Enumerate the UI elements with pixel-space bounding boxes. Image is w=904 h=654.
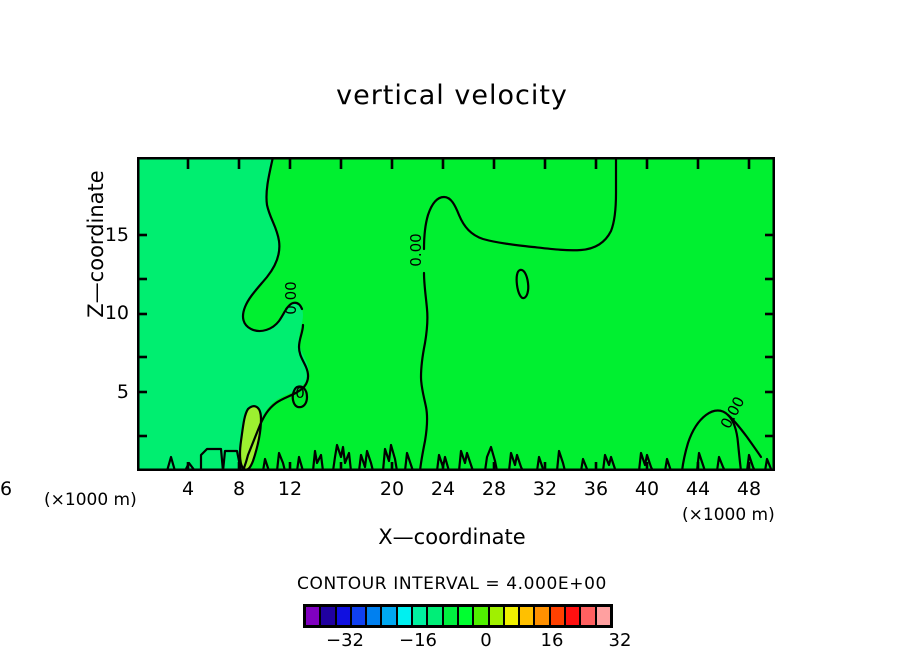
colorbar-swatch-12	[490, 607, 505, 625]
x-tick-label: 40	[635, 478, 659, 500]
y-tick-label: 5	[95, 381, 129, 403]
colorbar-tick-label: −16	[399, 630, 437, 651]
x-tick-label: 36	[584, 478, 608, 500]
colorbar-swatch-13	[505, 607, 520, 625]
colorbar-swatch-8	[428, 607, 443, 625]
y-tick-label: 15	[95, 224, 129, 246]
contour-canvas: 0.00 0.00 0 0.00	[137, 157, 775, 471]
contour-label: 0.00	[407, 233, 425, 266]
colorbar-tick-label: 32	[609, 630, 632, 651]
colorbar-swatch-2	[337, 607, 352, 625]
x-axis-unit-left: (×1000 m)	[44, 490, 137, 510]
colorbar-swatch-19	[597, 607, 610, 625]
colorbar-swatch-6	[398, 607, 413, 625]
colorbar-tick-label: −32	[326, 630, 364, 651]
colorbar-caption: CONTOUR INTERVAL = 4.000E+00	[0, 574, 904, 594]
colorbar-swatch-18	[581, 607, 596, 625]
x-tick-label: 48	[737, 478, 761, 500]
x-tick-label: 32	[533, 478, 557, 500]
colorbar-swatch-16	[551, 607, 566, 625]
contour-label: 0.00	[282, 281, 300, 314]
x-tick-label: 20	[380, 478, 404, 500]
x-tick-label: 24	[431, 478, 455, 500]
colorbar-swatch-9	[444, 607, 459, 625]
x-tick-label: 12	[278, 478, 302, 500]
contour-plot: 0.00 0.00 0 0.00	[137, 157, 775, 471]
colorbar-swatch-5	[382, 607, 397, 625]
colorbar-tick-label: 0	[480, 630, 491, 651]
colorbar-swatch-0	[306, 607, 321, 625]
x-axis-unit-right: (×1000 m)	[682, 505, 775, 525]
x-tick-label: 16	[0, 478, 12, 500]
x-tick-label: 8	[233, 478, 245, 500]
colorbar-swatch-11	[474, 607, 489, 625]
y-tick-label: 10	[95, 302, 129, 324]
colorbar	[303, 604, 613, 628]
figure-root: vertical velocity Z—coordinate 15 10 5 4…	[0, 0, 904, 654]
contour-label: 0	[295, 384, 305, 402]
colorbar-tick-labels: −32 −16 0 16 32	[303, 630, 613, 652]
colorbar-swatch-10	[459, 607, 474, 625]
colorbar-swatch-1	[321, 607, 336, 625]
x-tick-label: 28	[482, 478, 506, 500]
x-tick-label: 44	[686, 478, 710, 500]
colorbar-swatch-14	[520, 607, 535, 625]
x-tick-label: 4	[182, 478, 194, 500]
colorbar-swatch-4	[367, 607, 382, 625]
colorbar-tick-label: 16	[541, 630, 564, 651]
colorbar-swatch-15	[535, 607, 550, 625]
colorbar-swatch-3	[352, 607, 367, 625]
page-title: vertical velocity	[0, 80, 904, 111]
x-axis-label: X—coordinate	[0, 525, 904, 549]
colorbar-swatch-7	[413, 607, 428, 625]
colorbar-swatch-17	[566, 607, 581, 625]
